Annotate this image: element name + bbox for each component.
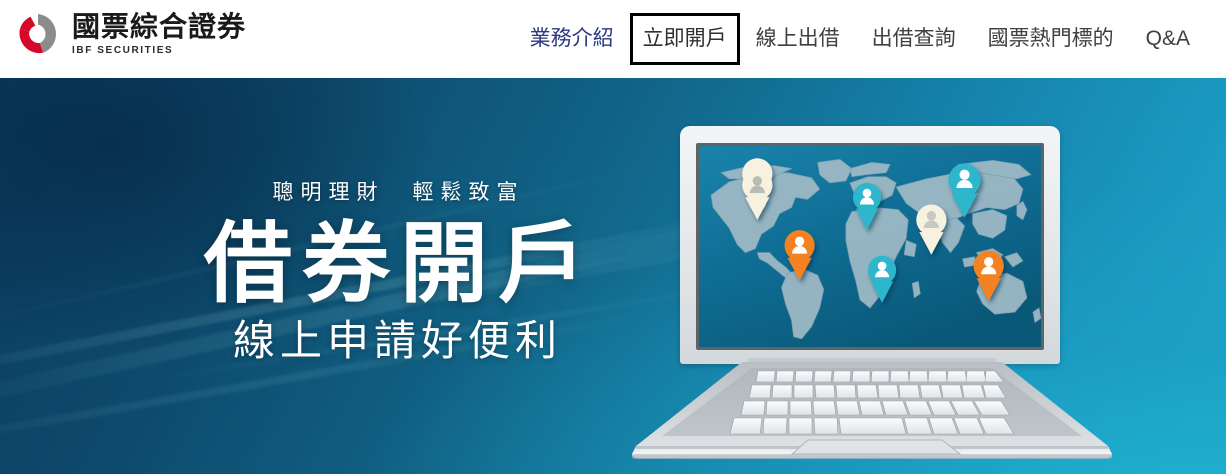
brand-logo-link[interactable]: 國票綜合證券 IBF SECURITIES [12, 8, 246, 60]
laptop-keyboard [730, 371, 1014, 434]
laptop-trackpad [792, 440, 960, 454]
nav-item-lending-query[interactable]: 出借查詢 [856, 22, 972, 56]
laptop-lid [680, 126, 1060, 364]
laptop-base [612, 358, 1132, 462]
laptop-illustration [612, 126, 1132, 474]
nav-item-qa[interactable]: Q&A [1130, 22, 1206, 56]
ibf-swirl-logo-icon [12, 8, 64, 60]
nav-item-services[interactable]: 業務介紹 [514, 22, 630, 56]
page-root: 國票綜合證券 IBF SECURITIES 業務介紹 立即開戶 線上出借 出借查… [0, 0, 1226, 474]
laptop-screen [699, 146, 1041, 347]
nav-item-online-lending[interactable]: 線上出借 [740, 22, 856, 56]
brand-name-cn: 國票綜合證券 [72, 12, 246, 41]
nav-item-popular-targets[interactable]: 國票熱門標的 [972, 22, 1130, 56]
site-header: 國票綜合證券 IBF SECURITIES 業務介紹 立即開戶 線上出借 出借查… [0, 0, 1226, 78]
nav-item-open-account[interactable]: 立即開戶 [630, 13, 740, 65]
laptop-screen-bezel [696, 143, 1044, 350]
main-navigation: 業務介紹 立即開戶 線上出借 出借查詢 國票熱門標的 Q&A [514, 0, 1206, 78]
hero-banner: 聰明理財 輕鬆致富 借券開戶 線上申請好便利 [0, 78, 1226, 474]
brand-name-en: IBF SECURITIES [72, 46, 246, 56]
